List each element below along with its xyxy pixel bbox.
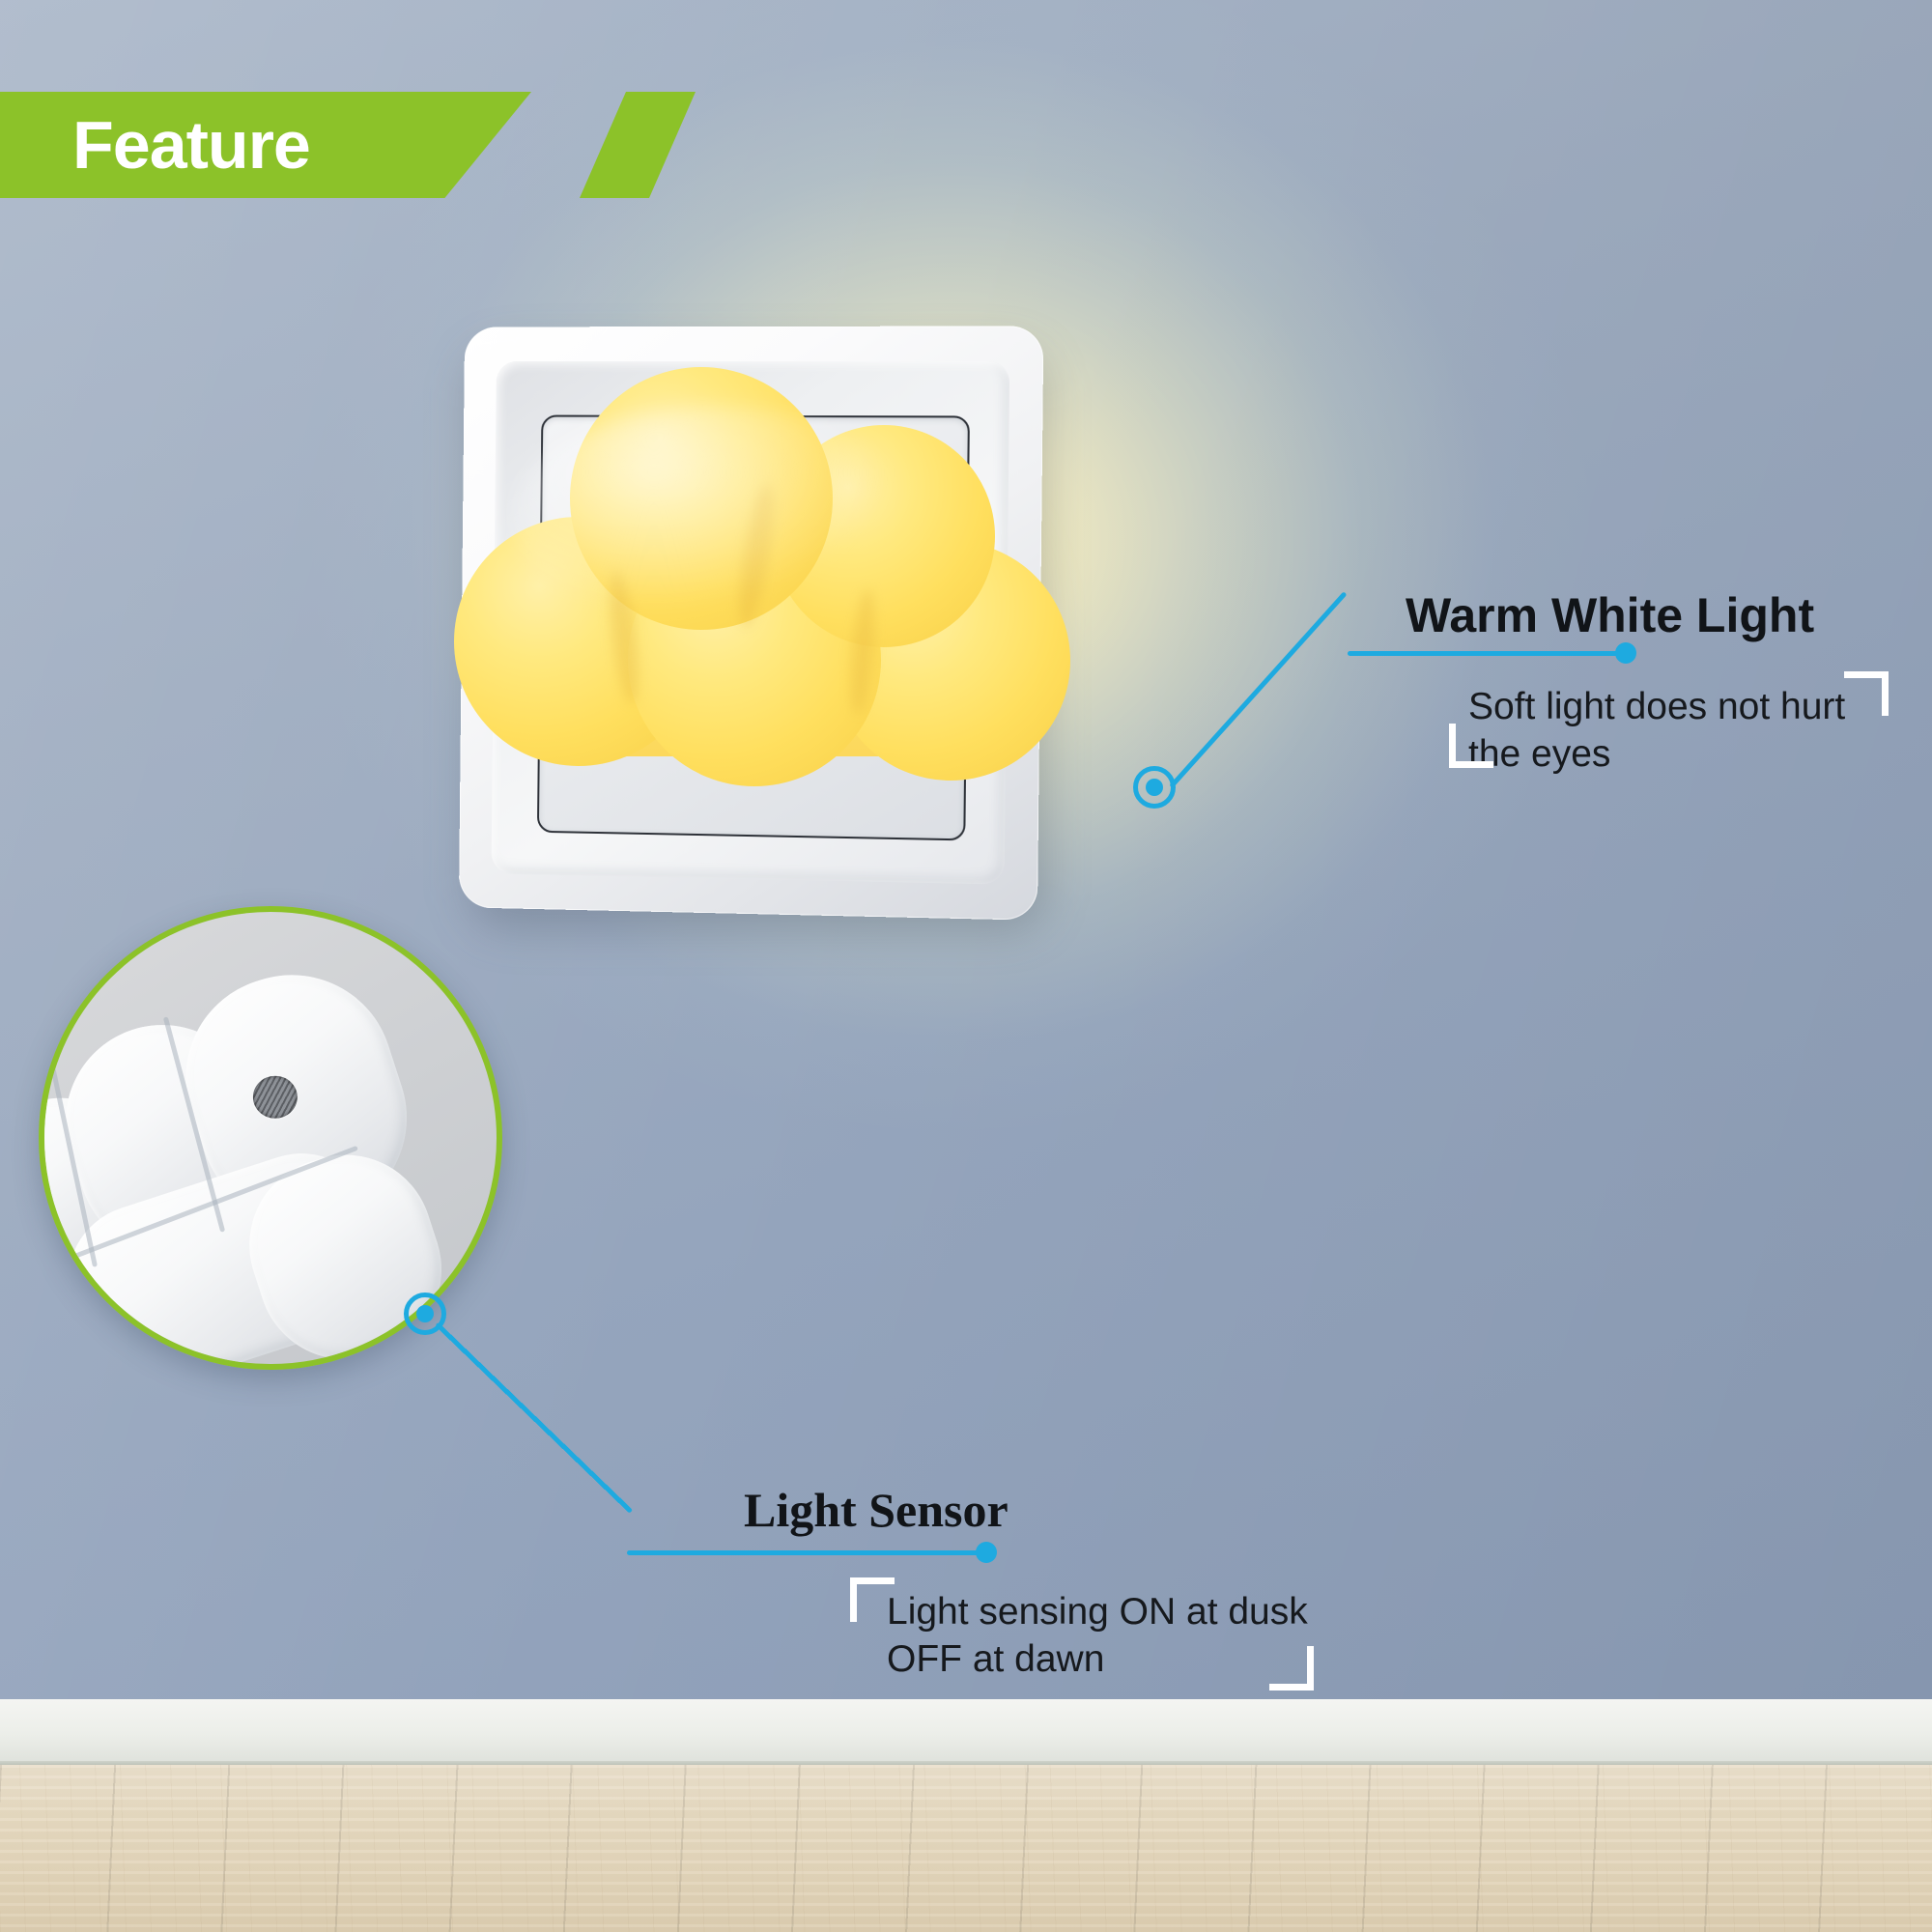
leader-endpoint-dot-light-sensor: [976, 1542, 997, 1563]
leader-endpoint-dot-warm-white-light: [1615, 642, 1636, 664]
callout-title-light-sensor: Light Sensor: [744, 1486, 1009, 1534]
corner-bracket-bottom-left-warm-white-light: [1449, 720, 1497, 768]
banner-title: Feature: [72, 111, 310, 179]
wood-floor-grain: [0, 1765, 1932, 1932]
cloud-highlight: [512, 406, 918, 628]
light-sensor-aperture-icon: [253, 1076, 298, 1119]
corner-bracket-top-left-light-sensor: [850, 1577, 898, 1626]
callout-description-light-sensor: Light sensing ON at dusk OFF at dawn: [887, 1589, 1389, 1684]
feature-banner: Feature: [0, 92, 696, 198]
feature-infographic: Feature Warm White Light Soft light does…: [0, 0, 1932, 1932]
corner-bracket-bottom-right-light-sensor: [1265, 1642, 1314, 1690]
cloud-night-light: [454, 367, 1082, 821]
banner-accent-slash: [580, 92, 696, 198]
banner-shape: Feature: [0, 92, 531, 198]
callout-title-warm-white-light: Warm White Light: [1406, 591, 1814, 639]
baseboard: [0, 1699, 1932, 1763]
target-marker-warm-white-light[interactable]: [1133, 766, 1176, 809]
corner-bracket-top-right-warm-white-light: [1840, 671, 1889, 720]
leader-line-horizontal-warm-white-light: [1348, 651, 1626, 656]
leader-line-horizontal-light-sensor: [627, 1550, 986, 1555]
